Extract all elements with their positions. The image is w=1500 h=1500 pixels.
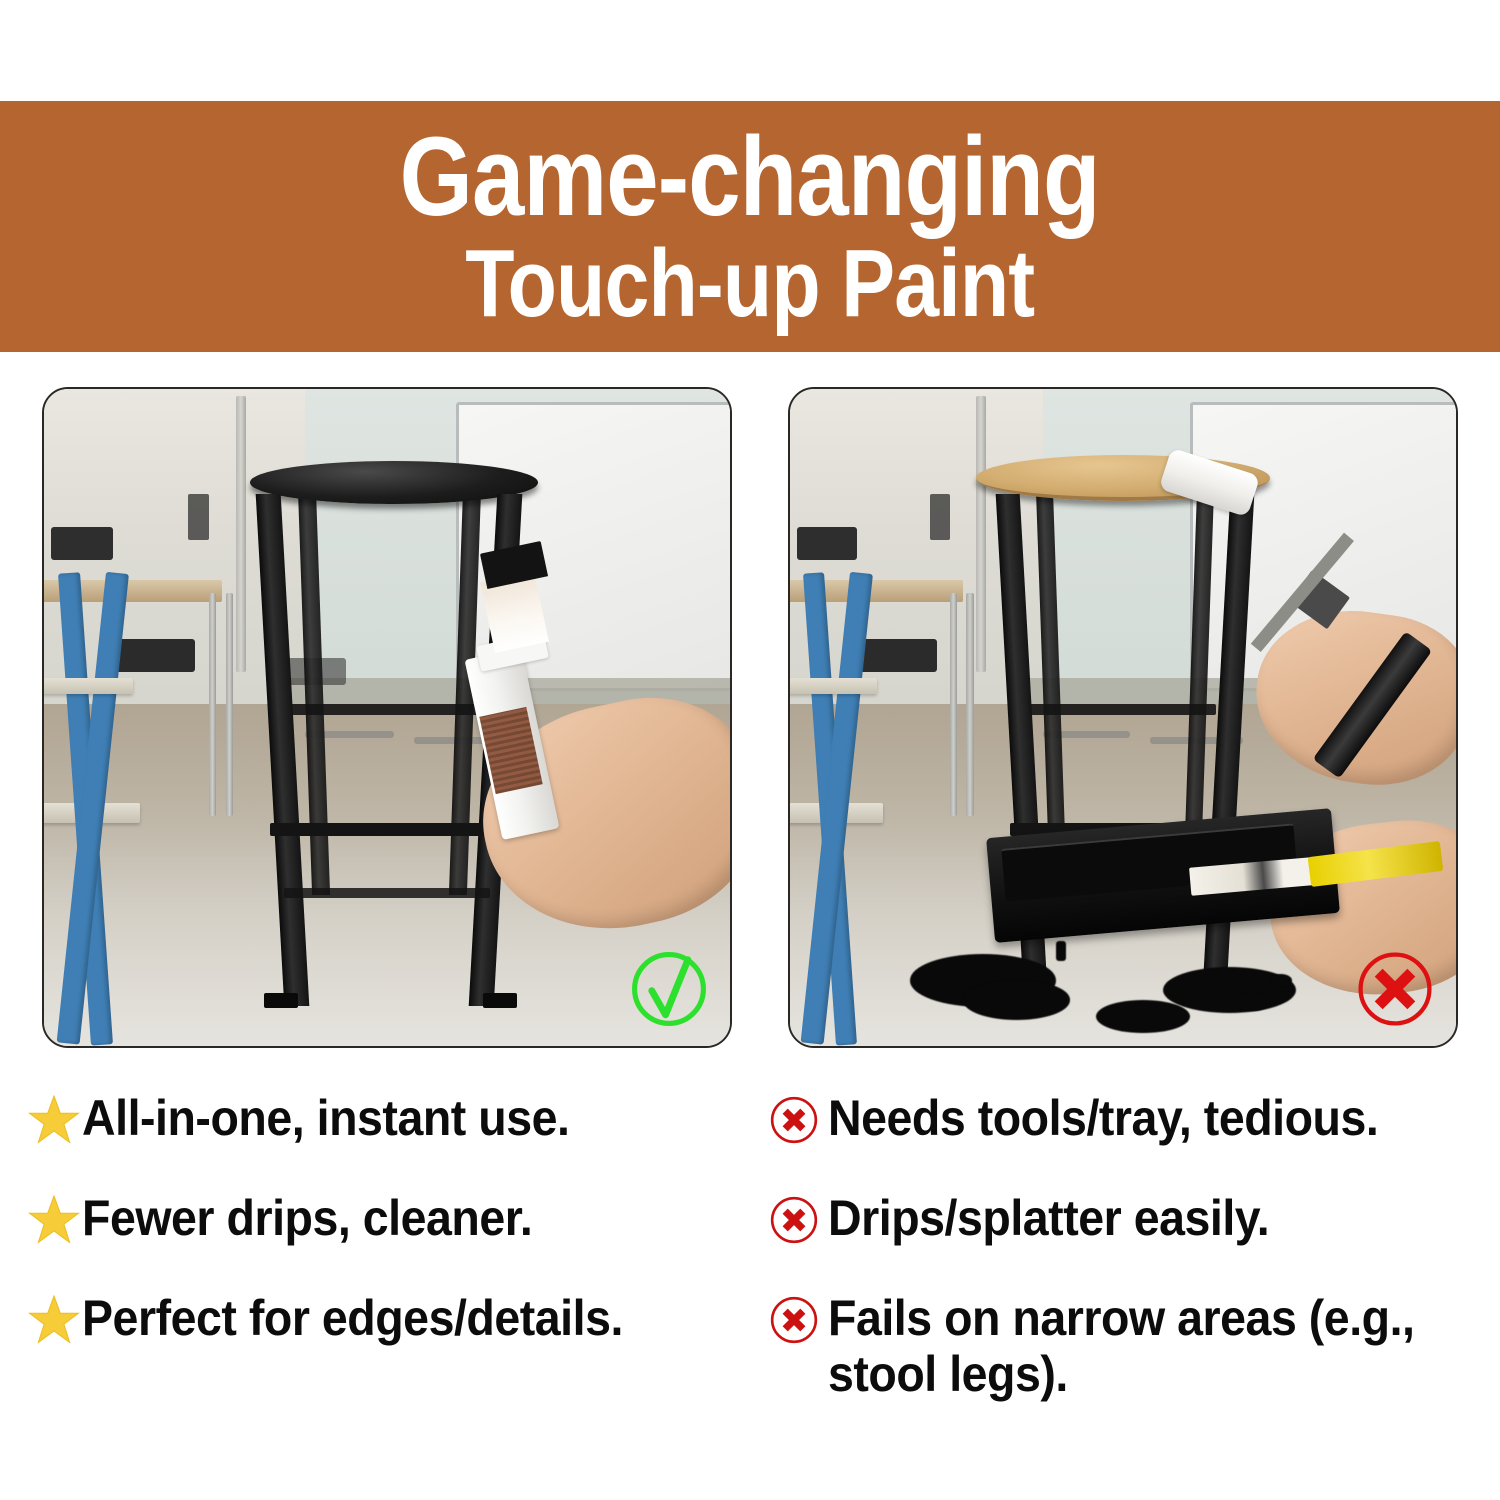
stool-foot	[483, 993, 517, 1007]
gold-star-icon	[28, 1194, 80, 1246]
desk-leg	[950, 593, 957, 816]
banner-headline-line-1: Game-changing	[400, 122, 1100, 232]
red-x-circle-icon	[768, 1294, 820, 1346]
list-item: All-in-one, instant use.	[28, 1090, 736, 1146]
verdict-badge-rejected	[1352, 946, 1438, 1032]
paint-splatter-drop	[1236, 993, 1269, 1010]
desk-leg	[209, 593, 217, 816]
paint-splatter-drop	[1056, 941, 1065, 961]
list-item: Perfect for edges/details.	[28, 1290, 736, 1346]
stool-seat-painted-black	[250, 461, 538, 504]
ladder-step	[44, 678, 133, 694]
cons-item-label: Needs tools/tray, tedious.	[828, 1090, 1378, 1146]
background-chair-back	[51, 527, 113, 560]
paint-splatter-drop	[1270, 974, 1293, 987]
infographic-page: Game-changing Touch-up Paint	[0, 0, 1500, 1500]
list-item: Needs tools/tray, tedious.	[768, 1090, 1486, 1146]
cons-item-label: Fails on narrow areas (e.g., stool legs)…	[828, 1290, 1415, 1402]
pros-column: All-in-one, instant use. Fewer drips, cl…	[0, 1090, 750, 1470]
verdict-badge-approved	[626, 946, 712, 1032]
wall-pipe	[236, 396, 246, 672]
pros-item-label: Fewer drips, cleaner.	[82, 1190, 532, 1246]
cons-item-label: Drips/splatter easily.	[828, 1190, 1269, 1246]
wall-switch	[930, 494, 950, 540]
wall-switch	[188, 494, 209, 540]
pros-item-label: All-in-one, instant use.	[82, 1090, 569, 1146]
photo-panel-touch-up-pen	[42, 387, 732, 1048]
gold-star-icon	[28, 1294, 80, 1346]
stool-rung	[284, 888, 490, 898]
header-banner: Game-changing Touch-up Paint	[0, 101, 1500, 352]
green-check-circle-icon	[626, 946, 712, 1032]
stool-rung	[1030, 704, 1216, 715]
pros-item-label: Perfect for edges/details.	[82, 1290, 623, 1346]
background-chair-seat	[857, 639, 937, 672]
background-chair-seat	[113, 639, 195, 672]
gold-star-icon	[28, 1094, 80, 1146]
spilled-paint-puddle	[963, 980, 1070, 1019]
ladder-step	[790, 678, 877, 694]
stool-foot	[264, 993, 298, 1007]
desk-leg	[226, 593, 234, 816]
background-chair-back	[797, 527, 857, 560]
list-item: Fewer drips, cleaner.	[28, 1190, 736, 1246]
wall-pipe	[976, 396, 985, 672]
banner-headline-line-2: Touch-up Paint	[465, 237, 1034, 331]
photo-panel-roller-and-tray	[788, 387, 1458, 1048]
list-item: Drips/splatter easily.	[768, 1190, 1486, 1246]
list-item: Fails on narrow areas (e.g., stool legs)…	[768, 1290, 1486, 1402]
red-x-circle-icon	[1352, 946, 1438, 1032]
stool-rung	[270, 823, 503, 837]
spilled-paint-puddle	[1096, 1000, 1189, 1033]
desk-leg	[966, 593, 973, 816]
stool-rung	[291, 704, 483, 715]
red-x-circle-icon	[768, 1094, 820, 1146]
cons-column: Needs tools/tray, tedious. Drips/splatte…	[750, 1090, 1500, 1470]
comparison-bullet-lists: All-in-one, instant use. Fewer drips, cl…	[0, 1090, 1500, 1470]
red-x-circle-icon	[768, 1194, 820, 1246]
